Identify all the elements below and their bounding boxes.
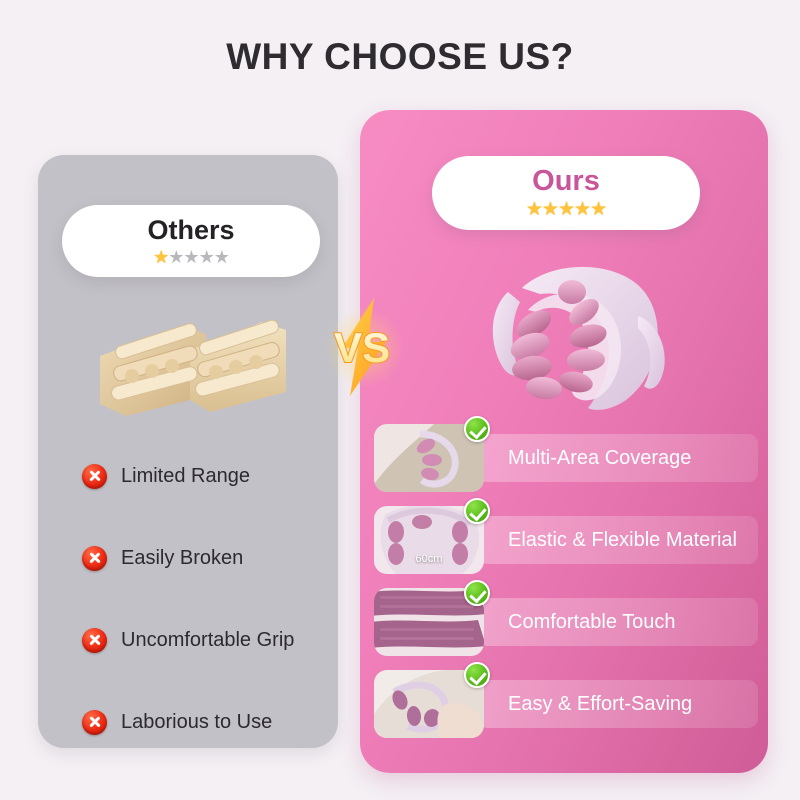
page-title: WHY CHOOSE US? (0, 36, 800, 78)
ours-product-image (462, 250, 690, 430)
red-x-icon (82, 628, 107, 653)
others-badge: Others ★★★★★ (62, 205, 320, 277)
others-badge-title: Others (147, 217, 234, 244)
others-product-image (86, 300, 306, 426)
list-item: Laborious to Use (82, 708, 332, 736)
list-item: Easy & Effort-Saving (374, 670, 758, 738)
green-check-icon (464, 416, 490, 442)
ours-badge-title: Ours (532, 167, 600, 196)
list-item: Comfortable Touch (374, 588, 758, 656)
red-x-icon (82, 546, 107, 571)
pro-label-chip: Elastic & Flexible Material (478, 516, 758, 564)
pro-label: Comfortable Touch (508, 611, 676, 634)
list-item: Easily Broken (82, 544, 332, 572)
con-label: Limited Range (121, 465, 250, 488)
list-item: Multi-Area Coverage (374, 424, 758, 492)
others-cons-list: Limited Range Easily Broken Uncomfortabl… (82, 462, 332, 736)
ours-badge: Ours ★★★★★ (432, 156, 700, 230)
pro-thumbnail[interactable] (374, 588, 484, 656)
pro-label: Multi-Area Coverage (508, 447, 691, 470)
vs-badge: VS (316, 296, 412, 398)
red-x-icon (82, 464, 107, 489)
pro-thumbnail[interactable]: 60cm (374, 506, 484, 574)
green-check-icon (464, 662, 490, 688)
green-check-icon (464, 498, 490, 524)
pro-label-chip: Easy & Effort-Saving (478, 680, 758, 728)
pro-label: Easy & Effort-Saving (508, 693, 692, 716)
con-label: Uncomfortable Grip (121, 629, 294, 652)
list-item: Limited Range (82, 462, 332, 490)
pro-thumbnail[interactable] (374, 670, 484, 738)
vs-label: VS (334, 324, 390, 371)
pro-thumbnail[interactable] (374, 424, 484, 492)
con-label: Laborious to Use (121, 711, 272, 734)
ours-rating-stars: ★★★★★ (526, 200, 606, 219)
green-check-icon (464, 580, 490, 606)
ours-pros-list: Multi-Area Coverage Elastic & Flex (374, 424, 758, 738)
list-item: Uncomfortable Grip (82, 626, 332, 654)
pro-label: Elastic & Flexible Material (508, 529, 737, 552)
list-item: Elastic & Flexible Material 60cm (374, 506, 758, 574)
red-x-icon (82, 710, 107, 735)
others-rating-stars: ★★★★★ (153, 248, 229, 266)
pro-label-chip: Multi-Area Coverage (478, 434, 758, 482)
thumbnail-caption: 60cm (374, 553, 484, 565)
pro-label-chip: Comfortable Touch (478, 598, 758, 646)
con-label: Easily Broken (121, 547, 243, 570)
